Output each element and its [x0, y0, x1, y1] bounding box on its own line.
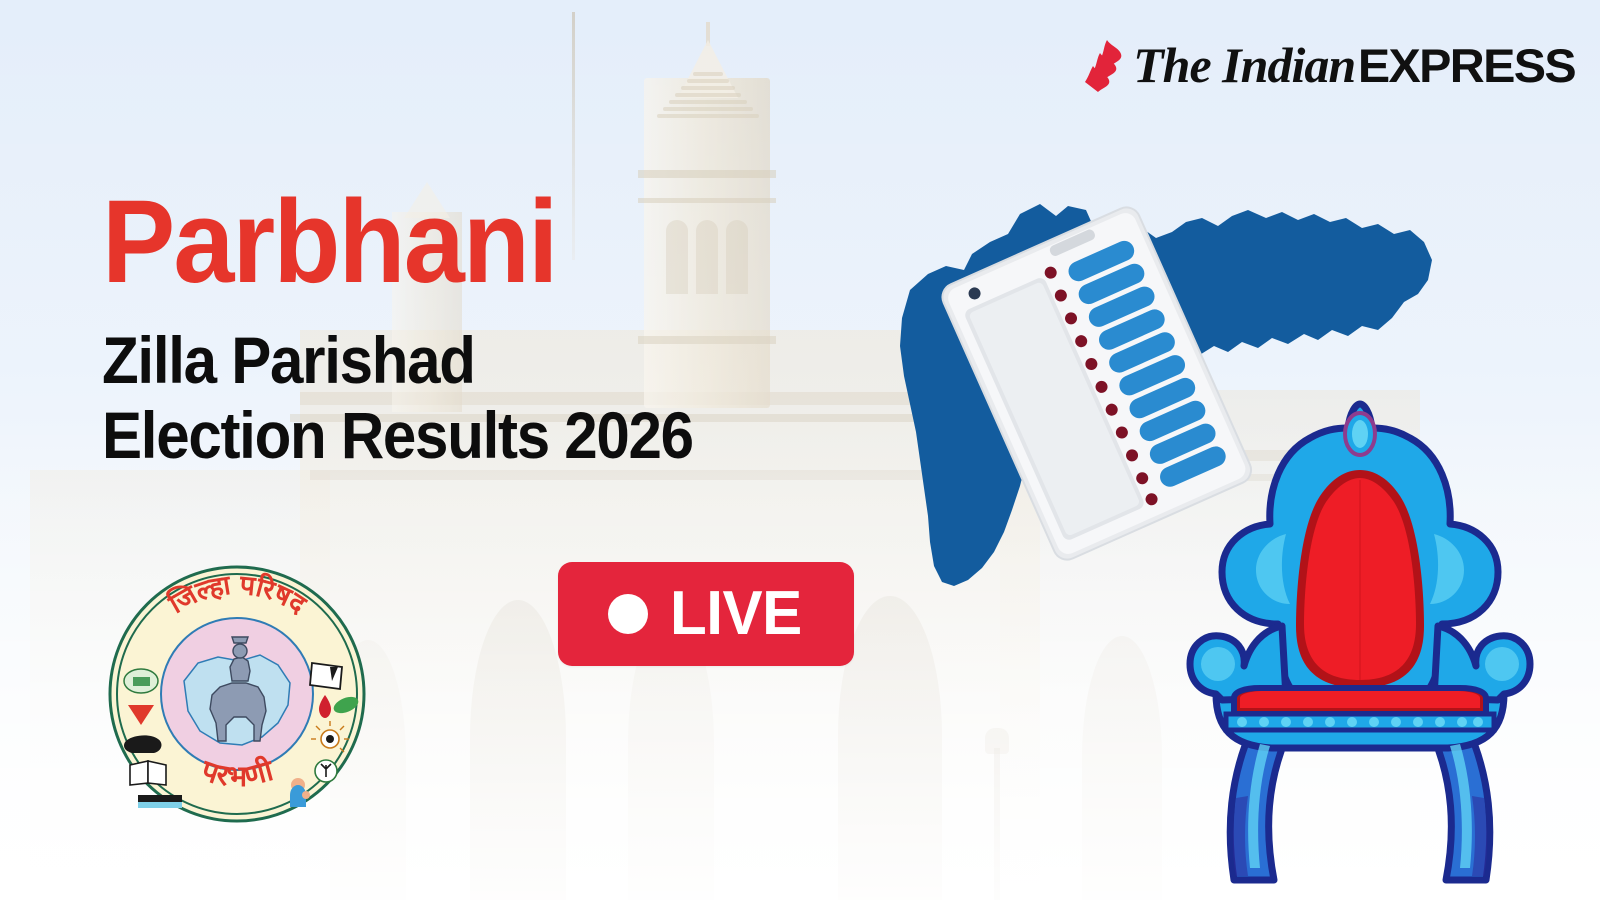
building-archway: [1082, 636, 1162, 900]
election-results-graphic: The Indian EXPRESS: [0, 0, 1600, 900]
road-bridge-icon: [138, 795, 182, 802]
masthead-brand-serif: The Indian: [1133, 40, 1355, 90]
open-book-education-icon: [130, 761, 148, 785]
zilla-parishad-parbhani-emblem: जिल्हा परिषद परभणी: [106, 563, 368, 825]
live-status-badge[interactable]: LIVE: [558, 562, 854, 666]
page-title-city: Parbhani: [102, 186, 846, 299]
live-badge-label: LIVE: [670, 583, 802, 645]
headline-block: Parbhani Zilla Parishad Election Results…: [102, 186, 902, 472]
street-lamp: [994, 748, 1000, 900]
throne-chair-illustration: [1160, 398, 1560, 888]
indian-express-masthead[interactable]: The Indian EXPRESS: [1081, 38, 1572, 92]
live-dot-icon: [608, 594, 648, 634]
building-archway: [470, 600, 566, 900]
industry-flag-icon: [310, 663, 342, 689]
tower-finial: [706, 22, 710, 46]
tower-spire-rings: [656, 72, 760, 112]
masthead-brand-bold: EXPRESS: [1358, 42, 1575, 89]
page-subtitle-line2: Election Results 2026: [102, 398, 830, 473]
page-subtitle-line1: Zilla Parishad: [102, 323, 830, 398]
tower-spire: [678, 40, 738, 98]
indian-express-flame-icon: [1081, 38, 1123, 92]
